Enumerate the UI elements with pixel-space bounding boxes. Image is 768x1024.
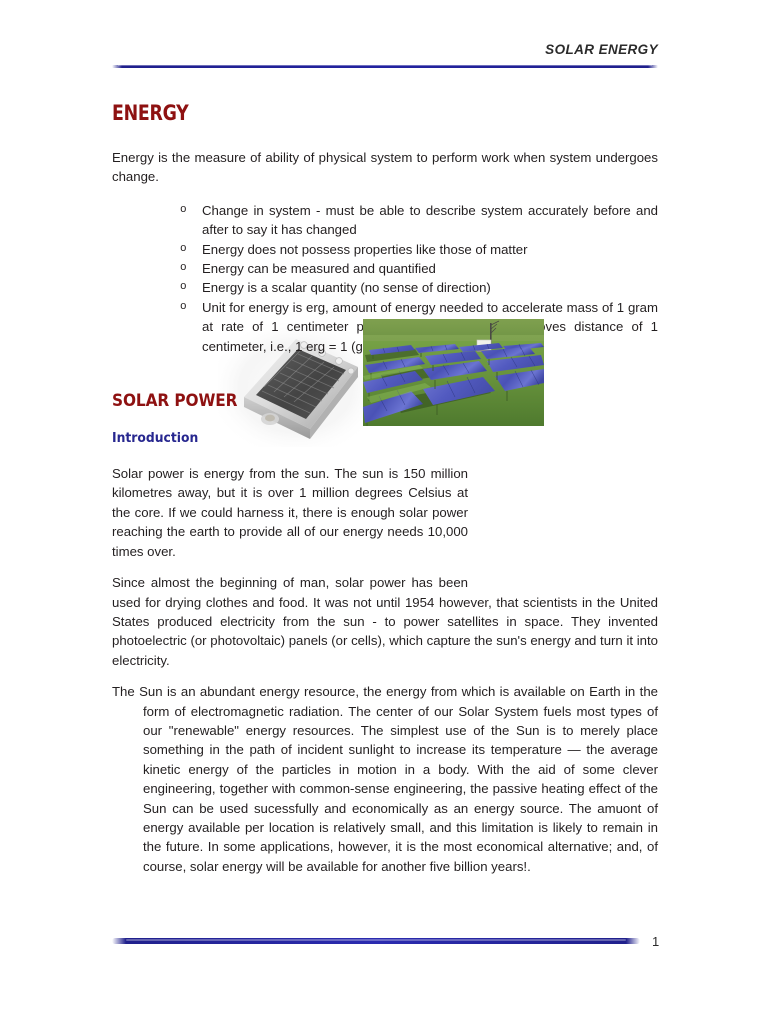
bullet-circle-icon: o [180, 201, 187, 220]
bullet-circle-icon: o [180, 240, 187, 259]
list-item-label: Energy is a scalar quantity (no sense of… [202, 280, 491, 295]
list-item-label: Energy can be measured and quantified [202, 261, 436, 276]
bullet-circle-icon: o [180, 278, 187, 297]
page-title-energy: ENERGY [112, 100, 614, 126]
subsection-title-introduction: Introduction [112, 430, 631, 448]
page-header: SOLAR ENERGY [112, 42, 658, 71]
solar-power-paragraph-3: The Sun is an abundant energy resource, … [112, 682, 658, 876]
list-item: o Energy can be measured and quantified [180, 259, 658, 278]
footer-rule-line [112, 938, 640, 944]
solar-power-paragraph-2: Since almost the beginning of man, solar… [112, 573, 658, 670]
document-page: SOLAR ENERGY [0, 0, 768, 1024]
bullet-circle-icon: o [180, 259, 187, 278]
list-item: o Change in system - must be able to des… [180, 201, 658, 240]
energy-intro-paragraph: Energy is the measure of ability of phys… [112, 148, 658, 187]
list-item-label: Energy does not possess properties like … [202, 242, 527, 257]
bullet-circle-icon: o [180, 298, 187, 317]
document-body: ENERGY Energy is the measure of ability … [112, 100, 658, 876]
list-item: o Energy does not possess properties lik… [180, 240, 658, 259]
solar-panel-farm-image [363, 319, 544, 426]
page-number: 1 [652, 934, 659, 950]
header-rule [112, 63, 658, 71]
header-rule-line [112, 65, 658, 68]
solar-power-paragraph-1: Solar power is energy from the sun. The … [112, 464, 658, 561]
list-item: o Energy is a scalar quantity (no sense … [180, 278, 658, 297]
header-title: SOLAR ENERGY [112, 42, 658, 58]
intro-paragraph-block: Solar power is energy from the sun. The … [112, 464, 658, 561]
list-item-label: Change in system - must be able to descr… [202, 203, 658, 237]
